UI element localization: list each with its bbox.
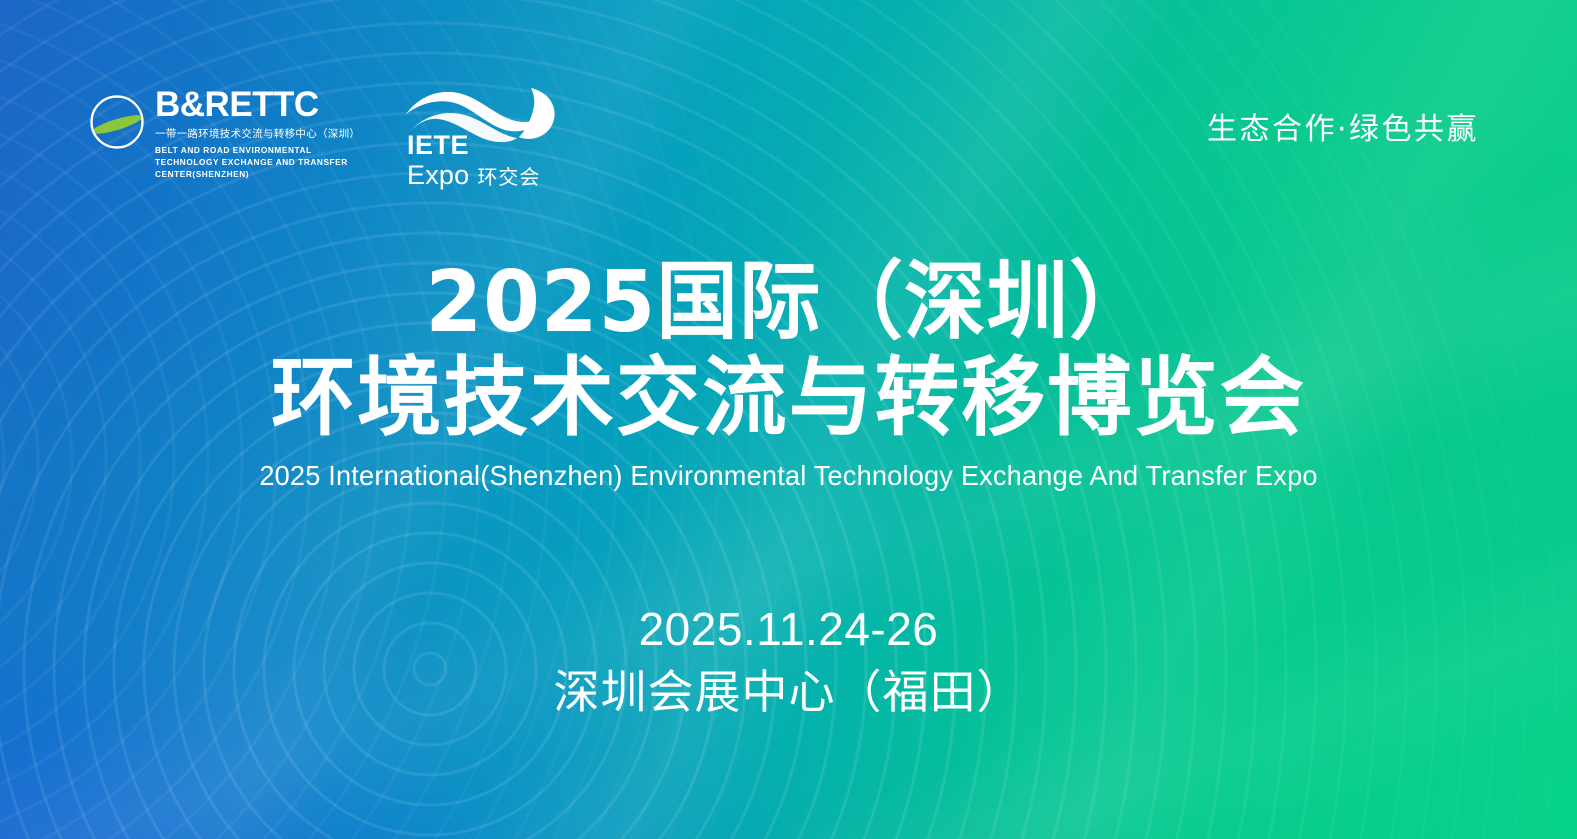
iete-wordmark-block: IETE Expo 环交会 xyxy=(407,132,540,189)
event-date: 2025.11.24-26 xyxy=(0,600,1577,659)
expo-banner: B&RETTC 一带一路环境技术交流与转移中心（深圳） BELT AND ROA… xyxy=(0,0,1577,839)
brettc-wordmark: B&RETTC xyxy=(155,87,370,122)
header-slogan: 生态合作·绿色共赢 xyxy=(1207,104,1479,148)
iete-subline: Expo 环交会 xyxy=(407,161,540,189)
banner-header: B&RETTC 一带一路环境技术交流与转移中心（深圳） BELT AND ROA… xyxy=(0,84,1577,204)
event-venue: 深圳会展中心（福田） xyxy=(0,663,1577,722)
event-info-block: 2025.11.24-26 深圳会展中心（福田） xyxy=(0,600,1577,722)
title-line-2: 环境技术交流与转移博览会 xyxy=(16,350,1561,446)
title-line-1: 2025国际（深圳） xyxy=(32,258,1546,348)
subtitle-english: 2025 International(Shenzhen) Environment… xyxy=(24,460,1554,492)
iete-expo-logo: IETE Expo 环交会 xyxy=(404,84,564,188)
brettc-english-name: BELT AND ROAD ENVIRONMENTAL TECHNOLOGY E… xyxy=(155,145,370,180)
brettc-text-block: B&RETTC 一带一路环境技术交流与转移中心（深圳） BELT AND ROA… xyxy=(155,87,370,181)
main-title-block: 2025国际（深圳） 环境技术交流与转移博览会 2025 Internation… xyxy=(0,258,1577,492)
iete-wordmark: IETE xyxy=(407,132,540,159)
logo-group: B&RETTC 一带一路环境技术交流与转移中心（深圳） BELT AND ROA… xyxy=(88,84,564,188)
iete-chinese-label: 环交会 xyxy=(477,167,540,187)
banner-content: B&RETTC 一带一路环境技术交流与转移中心（深圳） BELT AND ROA… xyxy=(0,0,1577,839)
brettc-logo: B&RETTC 一带一路环境技术交流与转移中心（深圳） BELT AND ROA… xyxy=(88,84,370,181)
brettc-chinese-name: 一带一路环境技术交流与转移中心（深圳） xyxy=(155,127,370,142)
globe-band-icon xyxy=(88,93,146,151)
iete-expo-label: Expo xyxy=(407,161,469,189)
